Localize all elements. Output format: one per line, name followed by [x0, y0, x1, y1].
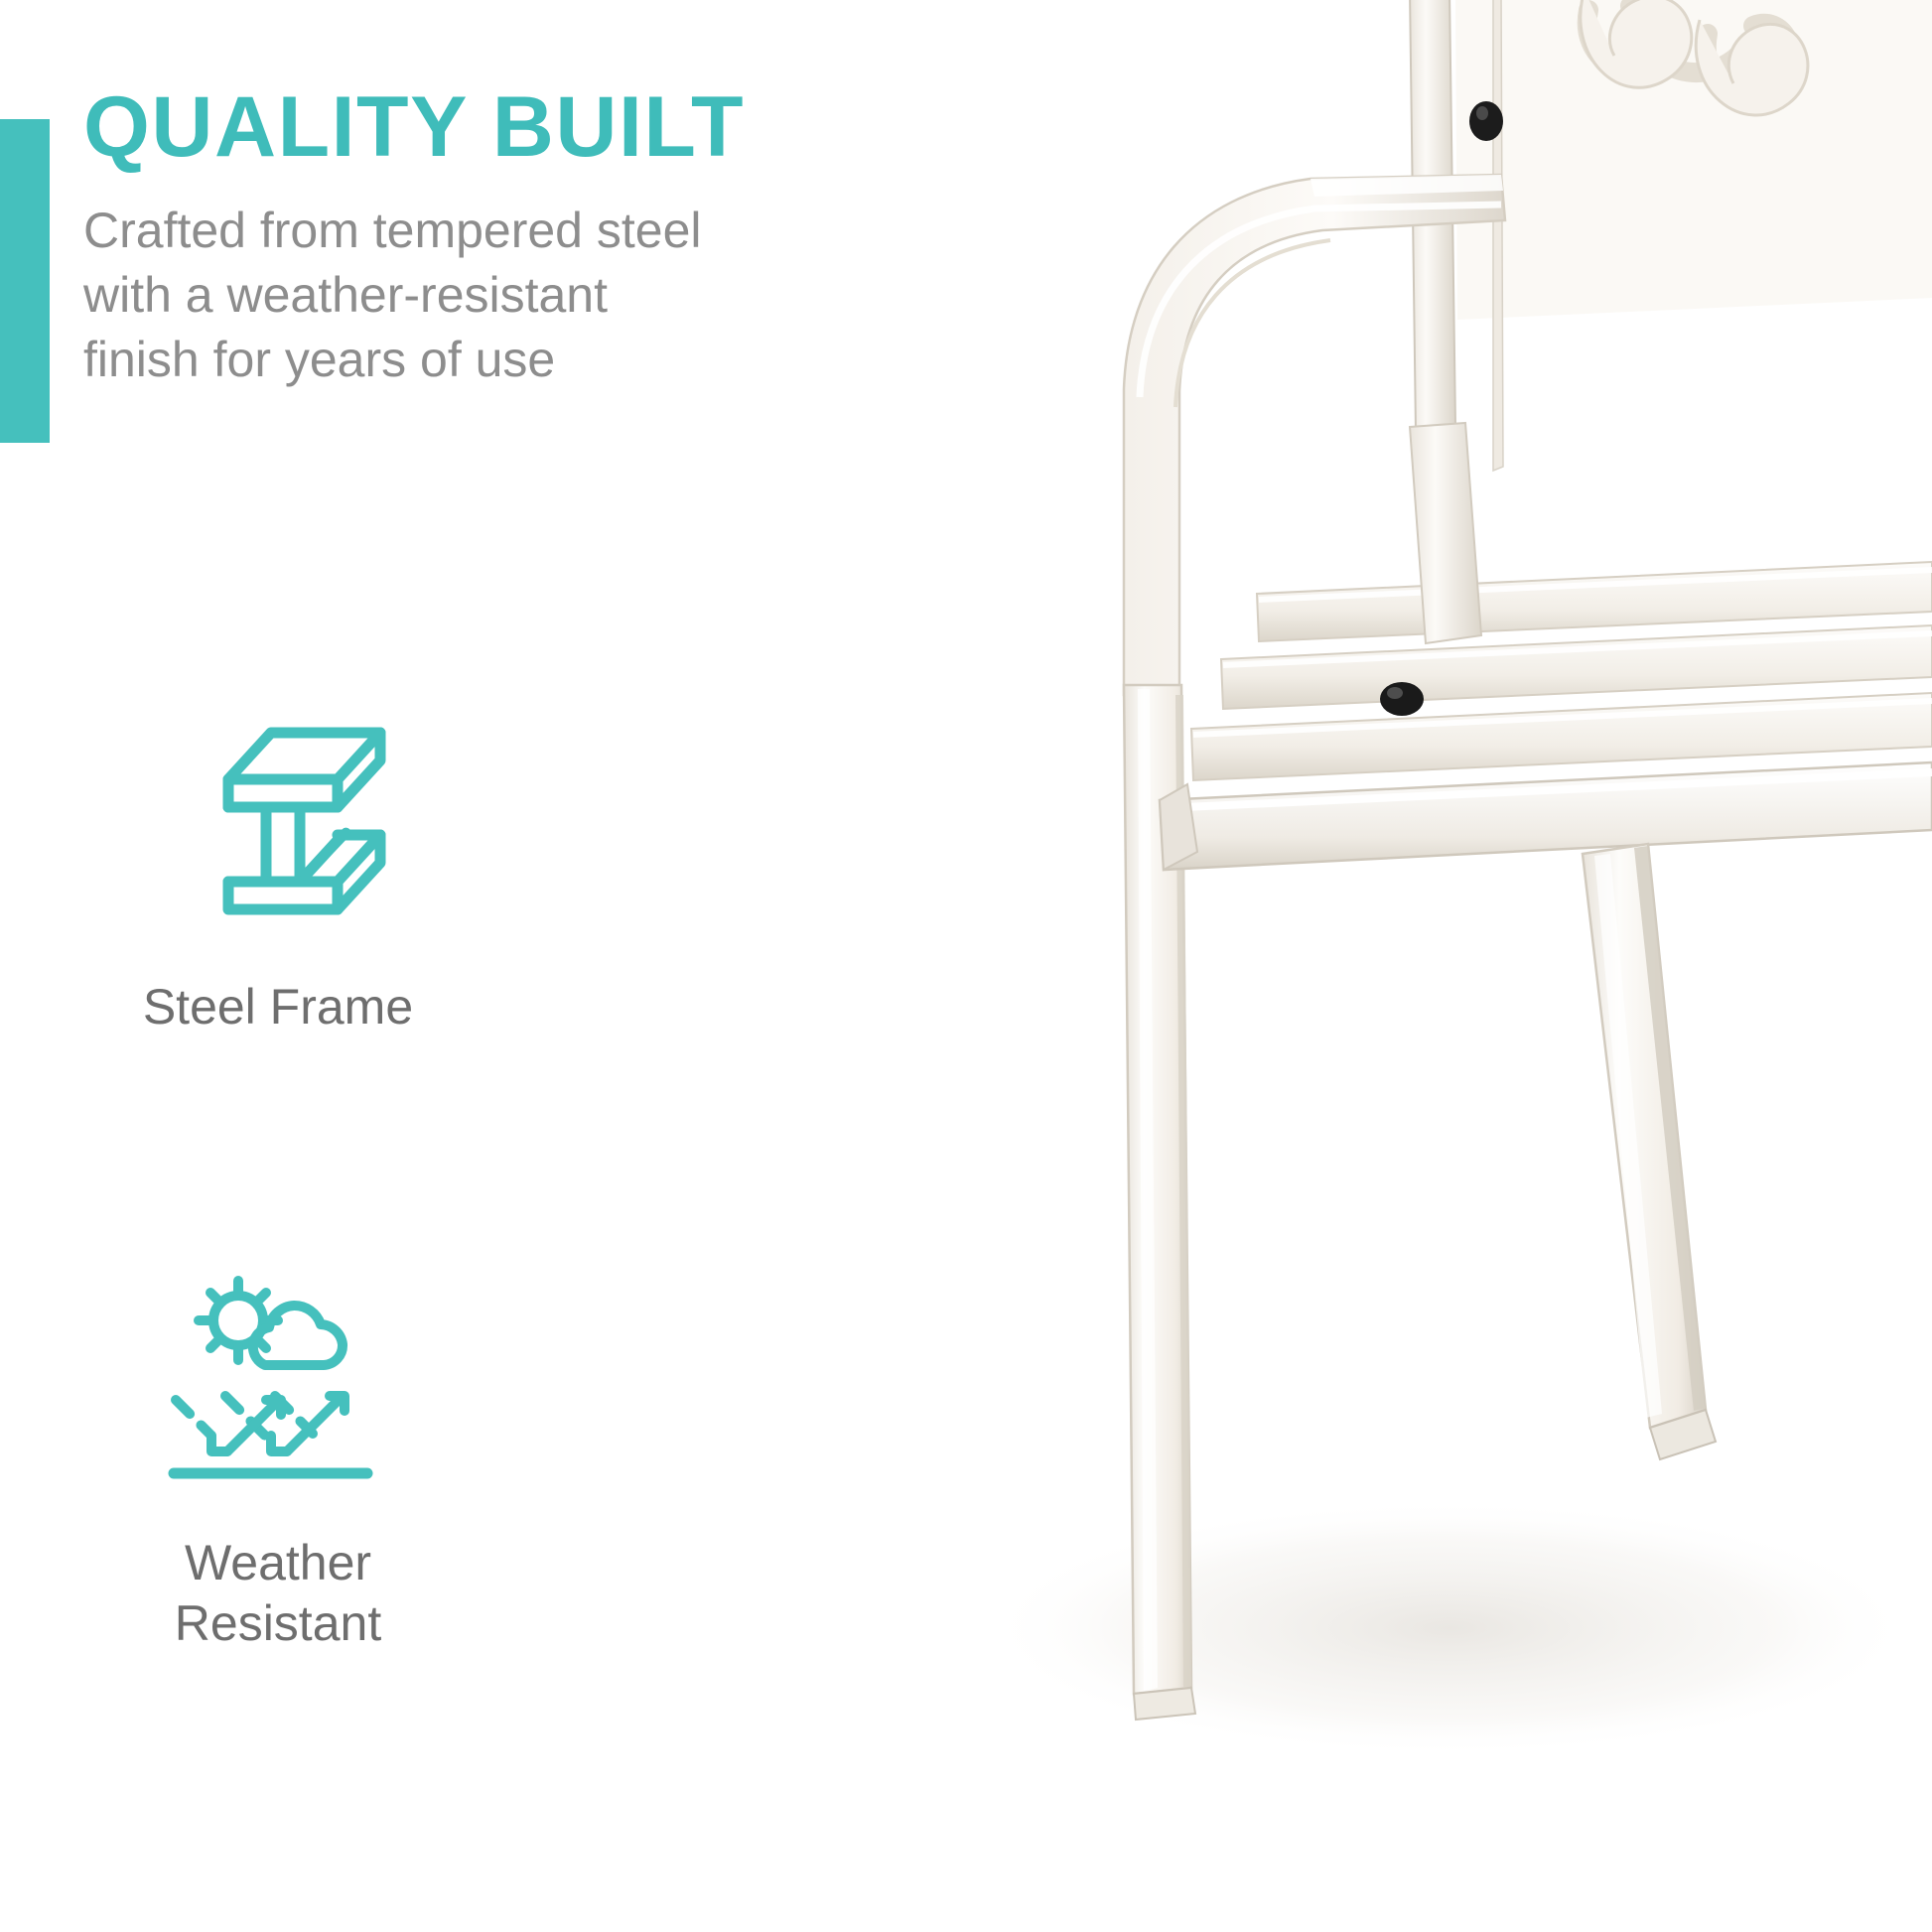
bolt-cap	[1469, 101, 1503, 141]
marketing-feature-panel: QUALITY BUILT Crafted from tempered stee…	[0, 0, 1932, 1932]
sun-cloud-deflect-icon	[154, 1261, 402, 1509]
product-shadow	[983, 1499, 1916, 1757]
subtitle-line-2: with a weather-resistant	[83, 263, 798, 328]
feature-label-steel-frame: Steel Frame	[40, 953, 516, 1037]
i-beam-icon	[154, 705, 402, 953]
feature-steel-frame: Steel Frame	[40, 705, 516, 1037]
subtitle-line-1: Crafted from tempered steel	[83, 199, 798, 263]
feature-label-line: Resistant	[40, 1593, 516, 1654]
seat-bolt-cap	[1380, 682, 1424, 716]
product-photo	[894, 0, 1932, 1932]
feature-label-line: Weather	[40, 1533, 516, 1593]
accent-bar	[0, 119, 50, 443]
feature-weather-resistant: Weather Resistant	[40, 1261, 516, 1654]
subtitle: Crafted from tempered steel with a weath…	[83, 199, 798, 392]
page-title: QUALITY BUILT	[83, 84, 745, 170]
feature-label-line: Steel Frame	[40, 977, 516, 1037]
subtitle-line-3: finish for years of use	[83, 328, 798, 392]
feature-label-weather-resistant: Weather Resistant	[40, 1509, 516, 1654]
